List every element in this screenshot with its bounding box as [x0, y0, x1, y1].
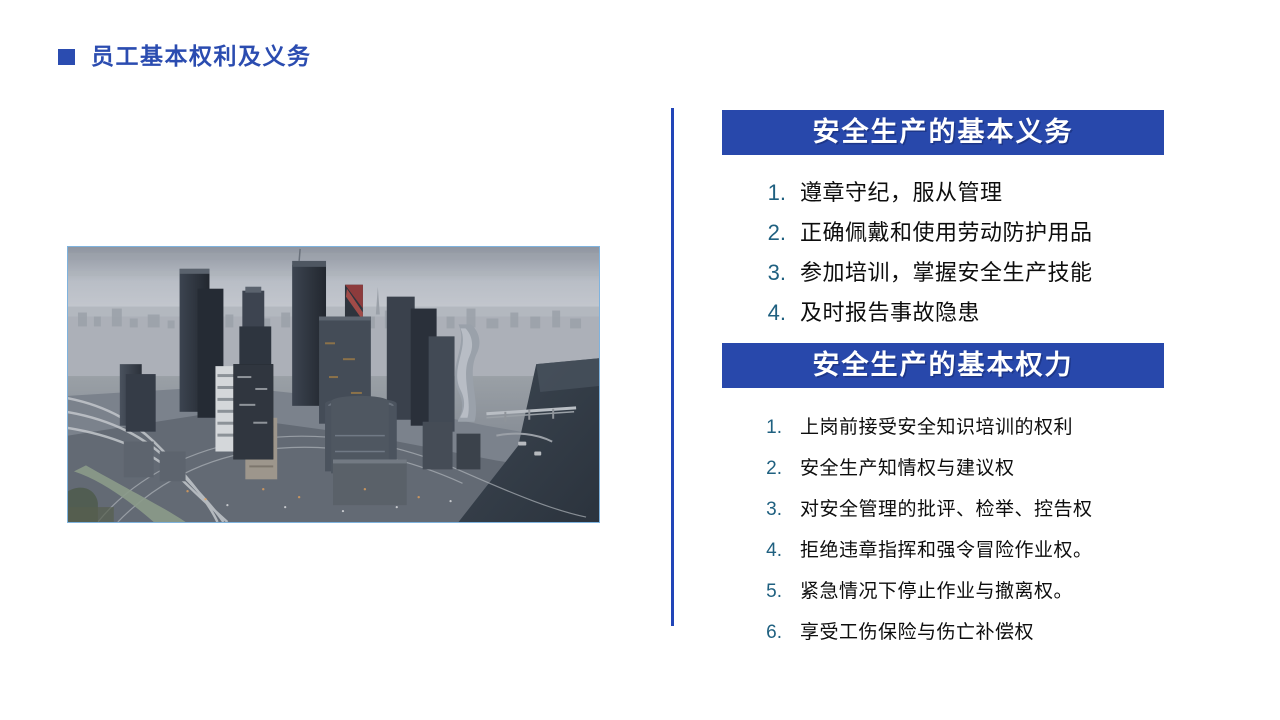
square-bullet-icon: [58, 49, 75, 65]
section-heading-duties: 安全生产的基本义务: [722, 110, 1164, 155]
list-item: 6. 享受工伤保险与伤亡补偿权: [760, 617, 1164, 644]
list-item-text: 安全生产知情权与建议权: [800, 453, 1015, 480]
list-item-number: 2.: [760, 458, 782, 480]
list-item-text: 拒绝违章指挥和强令冒险作业权。: [800, 535, 1093, 562]
duties-list: 1. 遵章守纪，服从管理 2. 正确佩戴和使用劳动防护用品 3. 参加培训，掌握…: [722, 175, 1164, 327]
list-item-number: 4.: [760, 540, 782, 562]
list-item-text: 正确佩戴和使用劳动防护用品: [800, 215, 1093, 247]
list-item-number: 3.: [762, 260, 786, 286]
content-column: 安全生产的基本义务 1. 遵章守纪，服从管理 2. 正确佩戴和使用劳动防护用品 …: [722, 110, 1164, 658]
list-item: 1. 遵章守纪，服从管理: [762, 175, 1164, 207]
list-item: 2. 正确佩戴和使用劳动防护用品: [762, 215, 1164, 247]
list-item-number: 6.: [760, 622, 782, 644]
list-item: 2. 安全生产知情权与建议权: [760, 453, 1164, 480]
list-item: 3. 对安全管理的批评、检举、控告权: [760, 494, 1164, 521]
section-heading-duties-text: 安全生产的基本义务: [813, 119, 1074, 146]
list-item-text: 享受工伤保险与伤亡补偿权: [800, 617, 1034, 644]
list-item: 4. 及时报告事故隐患: [762, 295, 1164, 327]
list-item-number: 4.: [762, 300, 786, 326]
cityscape-illustration: [68, 247, 599, 522]
list-item: 4. 拒绝违章指挥和强令冒险作业权。: [760, 535, 1164, 562]
list-item-number: 5.: [760, 581, 782, 603]
aerial-cityscape-photo: [67, 246, 600, 523]
list-item-number: 2.: [762, 220, 786, 246]
page-title: 员工基本权利及义务: [58, 45, 312, 68]
list-item-number: 3.: [760, 499, 782, 521]
list-item: 5. 紧急情况下停止作业与撤离权。: [760, 576, 1164, 603]
section-heading-rights-text: 安全生产的基本权力: [813, 352, 1074, 379]
list-item-text: 参加培训，掌握安全生产技能: [800, 255, 1093, 287]
vertical-divider: [671, 108, 674, 626]
list-item-text: 紧急情况下停止作业与撤离权。: [800, 576, 1073, 603]
list-item-text: 上岗前接受安全知识培训的权利: [800, 412, 1073, 439]
page-title-text: 员工基本权利及义务: [91, 45, 312, 68]
list-item-number: 1.: [762, 180, 786, 206]
list-item-text: 对安全管理的批评、检举、控告权: [800, 494, 1093, 521]
slide-canvas: 员工基本权利及义务: [0, 0, 1280, 720]
rights-list: 1. 上岗前接受安全知识培训的权利 2. 安全生产知情权与建议权 3. 对安全管…: [722, 412, 1164, 644]
section-heading-rights: 安全生产的基本权力: [722, 343, 1164, 388]
list-item-number: 1.: [760, 417, 782, 439]
list-item: 3. 参加培训，掌握安全生产技能: [762, 255, 1164, 287]
list-item-text: 遵章守纪，服从管理: [800, 175, 1003, 207]
list-item: 1. 上岗前接受安全知识培训的权利: [760, 412, 1164, 439]
list-item-text: 及时报告事故隐患: [800, 295, 980, 327]
